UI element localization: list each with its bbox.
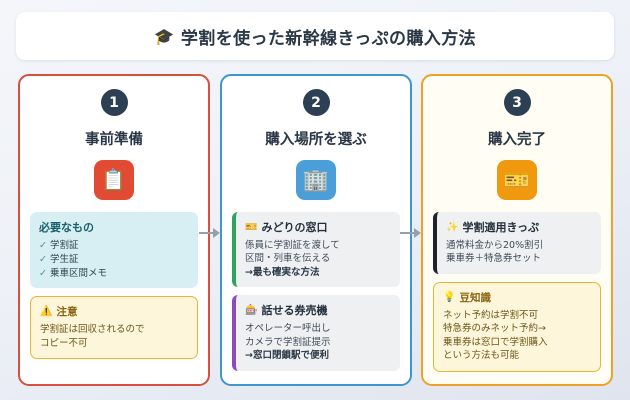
- caution-box: ⚠️ 注意 学割証は回収されるので コピー不可: [30, 296, 198, 359]
- arrow-shaft: [400, 232, 414, 234]
- tip-box: 💡 豆知識 ネット予約は学割不可 特急券のみネット予約→ 乗車券は窓口で学割購入…: [433, 282, 601, 372]
- clipboard-icon: 📋: [94, 160, 134, 200]
- sparkles-icon: ✨: [446, 222, 458, 233]
- talking-ticket-machine-box: 🎰 話せる券売機 オペレーター呼出し カメラで学割証提示 →窓口閉鎖駅で便利: [232, 295, 400, 370]
- required-items-box: 必要なもの ✓学割証 ✓学生証 ✓乗車区間メモ: [30, 212, 198, 288]
- lightbulb-icon: 💡: [443, 292, 455, 303]
- machine-emphasis: →窓口閉鎖駅で便利: [245, 349, 392, 362]
- office-building-icon: 🏢: [296, 160, 336, 200]
- check-icon: ✓: [39, 254, 47, 265]
- tip-line: ネット予約は学割不可: [443, 309, 592, 322]
- step-1-blocks: 必要なもの ✓学割証 ✓学生証 ✓乗車区間メモ ⚠️ 注意 学割証は回収されるの…: [30, 212, 198, 359]
- discount-heading-label: 学割適用きっぷ: [462, 219, 539, 235]
- ticket-machine-icon: 🎰: [245, 305, 257, 316]
- steps-container: 1 事前準備 📋 必要なもの ✓学割証 ✓学生証 ✓乗車区間メモ ⚠️ 注意: [0, 74, 630, 392]
- step-3-blocks: ✨ 学割適用きっぷ 通常料金から20%割引 乗車券＋特急券セット 💡 豆知識 ネ…: [433, 212, 601, 372]
- caution-line: 学割証は回収されるので: [40, 323, 189, 336]
- machine-heading: 🎰 話せる券売機: [245, 302, 392, 318]
- step-number-2: 2: [303, 89, 330, 116]
- step-title-1: 事前準備: [30, 128, 198, 149]
- ticket-icon: 🎫: [497, 160, 537, 200]
- midori-heading: 🎫 みどりの窓口: [245, 219, 392, 235]
- machine-line: オペレーター呼出し: [245, 322, 392, 335]
- checklist-item-label: 乗車区間メモ: [50, 268, 107, 279]
- tip-heading: 💡 豆知識: [443, 290, 592, 305]
- checklist-item: ✓学割証: [39, 239, 190, 253]
- arrow-head: [414, 228, 421, 238]
- step-number-1: 1: [101, 89, 128, 116]
- page-title: 学割を使った新幹線きっぷの購入方法: [181, 24, 476, 49]
- required-items-heading: 必要なもの: [39, 219, 190, 235]
- page-title-card: 🎓 学割を使った新幹線きっぷの購入方法: [16, 12, 614, 60]
- warning-icon: ⚠️: [40, 306, 52, 317]
- checklist-item: ✓乗車区間メモ: [39, 267, 190, 281]
- arrow-step1-to-step2: [199, 226, 221, 240]
- check-icon: ✓: [39, 268, 47, 279]
- midori-line: 区間・列車を伝える: [245, 252, 392, 265]
- midori-no-madoguchi-box: 🎫 みどりの窓口 係員に学割証を渡して 区間・列車を伝える →最も確実な方法: [232, 212, 400, 287]
- ticket-icon: 🎫: [245, 222, 257, 233]
- step-number-3: 3: [504, 89, 531, 116]
- checklist-item-label: 学割証: [50, 240, 79, 251]
- discount-heading: ✨ 学割適用きっぷ: [446, 219, 593, 235]
- caution-line: コピー不可: [40, 337, 189, 350]
- machine-heading-label: 話せる券売機: [261, 302, 327, 318]
- step-title-3: 購入完了: [433, 128, 601, 149]
- midori-line: 係員に学割証を渡して: [245, 239, 392, 252]
- arrow-step2-to-step3: [400, 226, 422, 240]
- caution-heading-label: 注意: [56, 304, 77, 319]
- midori-heading-label: みどりの窓口: [261, 219, 327, 235]
- midori-emphasis: →最も確実な方法: [245, 266, 392, 279]
- checklist-item: ✓学生証: [39, 253, 190, 267]
- step-card-1[interactable]: 1 事前準備 📋 必要なもの ✓学割証 ✓学生証 ✓乗車区間メモ ⚠️ 注意: [18, 74, 210, 386]
- step-card-3[interactable]: 3 購入完了 🎫 ✨ 学割適用きっぷ 通常料金から20%割引 乗車券＋特急券セッ…: [421, 74, 613, 386]
- step-card-2[interactable]: 2 購入場所を選ぶ 🏢 🎫 みどりの窓口 係員に学割証を渡して 区間・列車を伝え…: [220, 74, 412, 386]
- discount-line: 乗車券＋特急券セット: [446, 252, 593, 265]
- caution-heading: ⚠️ 注意: [40, 304, 189, 319]
- tip-line: 乗車券は窓口で学割購入: [443, 336, 592, 349]
- tip-line: という方法も可能: [443, 349, 592, 362]
- machine-line: カメラで学割証提示: [245, 336, 392, 349]
- tip-line: 特急券のみネット予約→: [443, 322, 592, 335]
- arrow-head: [213, 228, 220, 238]
- discount-ticket-box: ✨ 学割適用きっぷ 通常料金から20%割引 乗車券＋特急券セット: [433, 212, 601, 274]
- graduation-cap-icon: 🎓: [154, 27, 174, 46]
- step-title-2: 購入場所を選ぶ: [232, 128, 400, 149]
- tip-heading-label: 豆知識: [459, 290, 491, 305]
- checklist-item-label: 学生証: [50, 254, 79, 265]
- arrow-shaft: [199, 232, 213, 234]
- step-2-blocks: 🎫 みどりの窓口 係員に学割証を渡して 区間・列車を伝える →最も確実な方法 🎰…: [232, 212, 400, 371]
- discount-line: 通常料金から20%割引: [446, 239, 593, 252]
- check-icon: ✓: [39, 240, 47, 251]
